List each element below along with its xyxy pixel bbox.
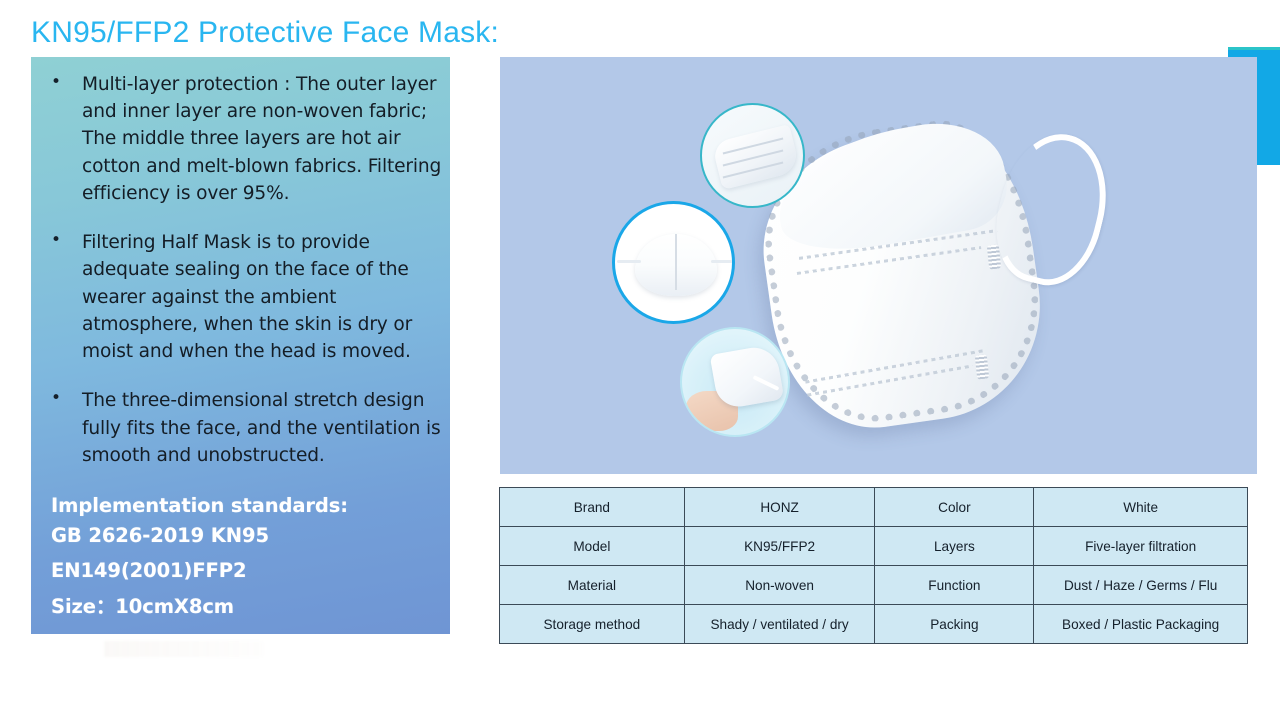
implementation-standards-block: Implementation standards: GB 2626-2019 K… bbox=[41, 491, 442, 622]
inset-folded-side-view bbox=[700, 103, 805, 208]
spec-value: Boxed / Plastic Packaging bbox=[1034, 605, 1248, 644]
main-mask-illustration bbox=[768, 117, 1098, 437]
inset-hand-holding-mask bbox=[680, 327, 790, 437]
spec-label: Brand bbox=[500, 488, 685, 527]
spec-value: Dust / Haze / Germs / Flu bbox=[1034, 566, 1248, 605]
feature-bullet-list: Multi-layer protection : The outer layer… bbox=[41, 71, 442, 469]
table-row: Material Non-woven Function Dust / Haze … bbox=[500, 566, 1248, 605]
list-item: Filtering Half Mask is to provide adequa… bbox=[41, 229, 442, 365]
table-row: Model KN95/FFP2 Layers Five-layer filtra… bbox=[500, 527, 1248, 566]
spec-label: Material bbox=[500, 566, 685, 605]
mask-earloop-weld bbox=[975, 354, 989, 379]
ear-strap bbox=[617, 260, 641, 263]
features-panel: Multi-layer protection : The outer layer… bbox=[31, 57, 450, 634]
table-row: Storage method Shady / ventilated / dry … bbox=[500, 605, 1248, 644]
spec-value: HONZ bbox=[684, 488, 875, 527]
page-title: KN95/FFP2 Protective Face Mask: bbox=[31, 16, 499, 50]
standard-size: Size：10cmX8cm bbox=[51, 592, 442, 622]
spec-label: Storage method bbox=[500, 605, 685, 644]
spec-label: Packing bbox=[875, 605, 1034, 644]
standards-heading: Implementation standards: bbox=[51, 491, 442, 521]
spec-value: Shady / ventilated / dry bbox=[684, 605, 875, 644]
center-crease bbox=[675, 234, 677, 290]
product-photo bbox=[500, 57, 1257, 474]
spec-value: KN95/FFP2 bbox=[684, 527, 875, 566]
inset-front-view bbox=[612, 201, 735, 324]
standard-en: EN149(2001)FFP2 bbox=[51, 556, 442, 586]
spec-value: White bbox=[1034, 488, 1248, 527]
spec-value: Non-woven bbox=[684, 566, 875, 605]
faint-watermark bbox=[104, 641, 264, 657]
list-item: The three-dimensional stretch design ful… bbox=[41, 387, 442, 469]
table-row: Brand HONZ Color White bbox=[500, 488, 1248, 527]
spec-label: Model bbox=[500, 527, 685, 566]
standard-gb: GB 2626-2019 KN95 bbox=[51, 521, 442, 551]
spec-label: Layers bbox=[875, 527, 1034, 566]
ear-strap bbox=[711, 260, 735, 263]
spec-label: Color bbox=[875, 488, 1034, 527]
spec-label: Function bbox=[875, 566, 1034, 605]
specification-table: Brand HONZ Color White Model KN95/FFP2 L… bbox=[499, 487, 1248, 644]
spec-value: Five-layer filtration bbox=[1034, 527, 1248, 566]
list-item: Multi-layer protection : The outer layer… bbox=[41, 71, 442, 207]
